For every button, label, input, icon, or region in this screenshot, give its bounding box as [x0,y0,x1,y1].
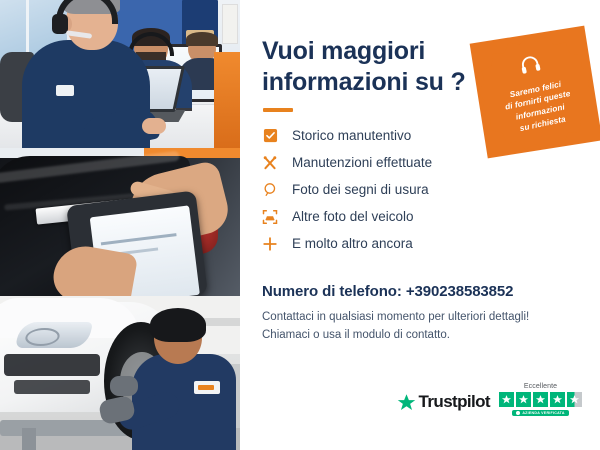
checkbox-checked-icon [262,128,278,144]
verified-label: AZIENDA VERIFICATA [522,411,564,415]
verified-check-icon [516,411,520,415]
list-item-altre-foto-veicolo: Altre foto del veicolo [262,203,576,230]
photo3-lower-grille [14,380,90,394]
headline-line-2: informazioni su ? [262,68,466,96]
star-4 [550,392,565,407]
photo1-agent-foreground [22,0,150,148]
photo-column: AUTO1 [0,0,240,450]
star-1 [499,392,514,407]
headline-line-1: Vuoi maggiori [262,37,425,65]
photo3-headlight [15,322,93,348]
trustpilot-star-icon [397,393,416,412]
promo-banner: AUTO1 [0,0,600,450]
phone-number-label[interactable]: Numero di telefono: +390238583852 [262,283,576,300]
photo-vehicle-inspection-with-tablet: AUTO1 [0,148,240,296]
list-item-molto-altro: E molto altro ancora [262,230,576,257]
list-item-foto-segni-usura: Foto dei segni di usura [262,176,576,203]
car-frame-icon [262,209,278,225]
list-item-label: E molto altro ancora [292,236,413,251]
trustpilot-score: Eccellente [499,383,582,416]
wrench-tools-icon [262,155,278,171]
content-panel: Vuoi maggiori informazioni su ? Storico … [240,0,600,450]
badge-content: Saremo felici di fornirti queste informa… [467,23,600,161]
list-item-label: Altre foto del veicolo [292,209,414,224]
list-item-manutenzioni-effettuate: Manutenzioni effettuate [262,149,576,176]
list-item-label: Foto dei segni di usura [292,182,429,197]
badge-text: Saremo felici di fornirti queste informa… [489,74,589,139]
title-divider [263,108,293,112]
photo1-orange-panel [214,52,240,148]
contact-description: Contattaci in qualsiasi momento per ulte… [262,309,576,345]
page-title: Vuoi maggiori informazioni su ? [262,36,492,97]
contact-description-line-2: Chiamaci o usa il modulo di contatto. [262,329,450,341]
magnifier-icon [262,182,278,198]
trustpilot-rating[interactable]: Trustpilot Eccellente [397,383,582,416]
trustpilot-logo: Trustpilot [397,392,490,416]
trustpilot-wordmark: Trustpilot [419,392,490,412]
contact-description-line-1: Contattaci in qualsiasi momento per ulte… [262,311,529,323]
photo-mechanic-checking-wheel-on-lift [0,296,240,450]
star-5-half [567,392,582,407]
photo3-lift-leg [22,428,36,450]
photo3-mechanic [132,312,236,450]
list-item-label: Storico manutentivo [292,128,411,143]
star-2 [516,392,531,407]
trustpilot-stars [499,392,582,407]
plus-icon [262,236,278,252]
verified-company-badge: AZIENDA VERIFICATA [512,410,568,416]
promo-starburst-badge: Saremo felici di fornirti queste informa… [470,26,600,159]
headset-icon [517,52,544,81]
list-item-label: Manutenzioni effettuate [292,155,432,170]
photo-call-center-agents-with-headsets [0,0,240,148]
photo3-grille [4,354,100,376]
star-3 [533,392,548,407]
trustpilot-rating-label: Eccellente [524,383,557,390]
